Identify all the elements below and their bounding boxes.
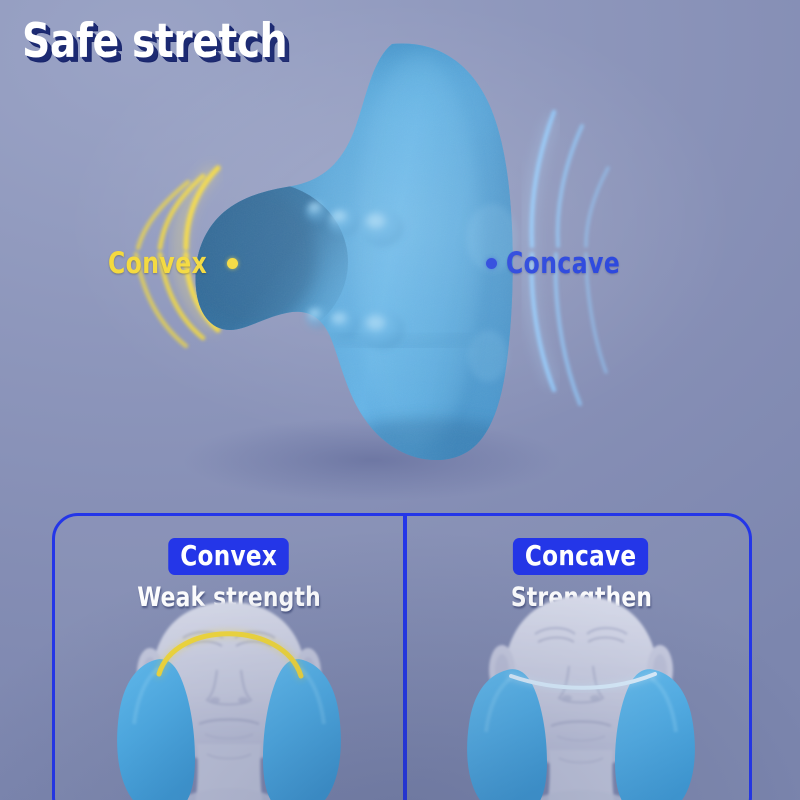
callout-concave-label: Concave bbox=[506, 246, 620, 280]
callout-convex-label: Convex bbox=[108, 246, 207, 280]
callout-concave: Concave bbox=[486, 246, 633, 280]
panel-convex-figure bbox=[55, 594, 403, 800]
panel-convex: Convex Weak strength bbox=[55, 516, 403, 800]
product-shadow bbox=[182, 418, 562, 500]
callout-concave-dot-icon bbox=[486, 258, 497, 269]
panel-convex-badge: Convex bbox=[169, 538, 290, 575]
panel-concave-badge: Concave bbox=[513, 538, 648, 575]
callout-convex-dot-icon bbox=[227, 258, 238, 269]
callout-convex: Convex bbox=[108, 246, 238, 280]
comparison-frame: Convex Weak strength bbox=[52, 513, 752, 800]
page-title: Safe stretch bbox=[22, 14, 287, 69]
panel-concave: Concave Strengthen bbox=[407, 516, 752, 800]
product-marketing-image: Safe stretch Convex Concave Convex Weak … bbox=[0, 0, 800, 800]
panel-concave-figure bbox=[407, 594, 752, 800]
